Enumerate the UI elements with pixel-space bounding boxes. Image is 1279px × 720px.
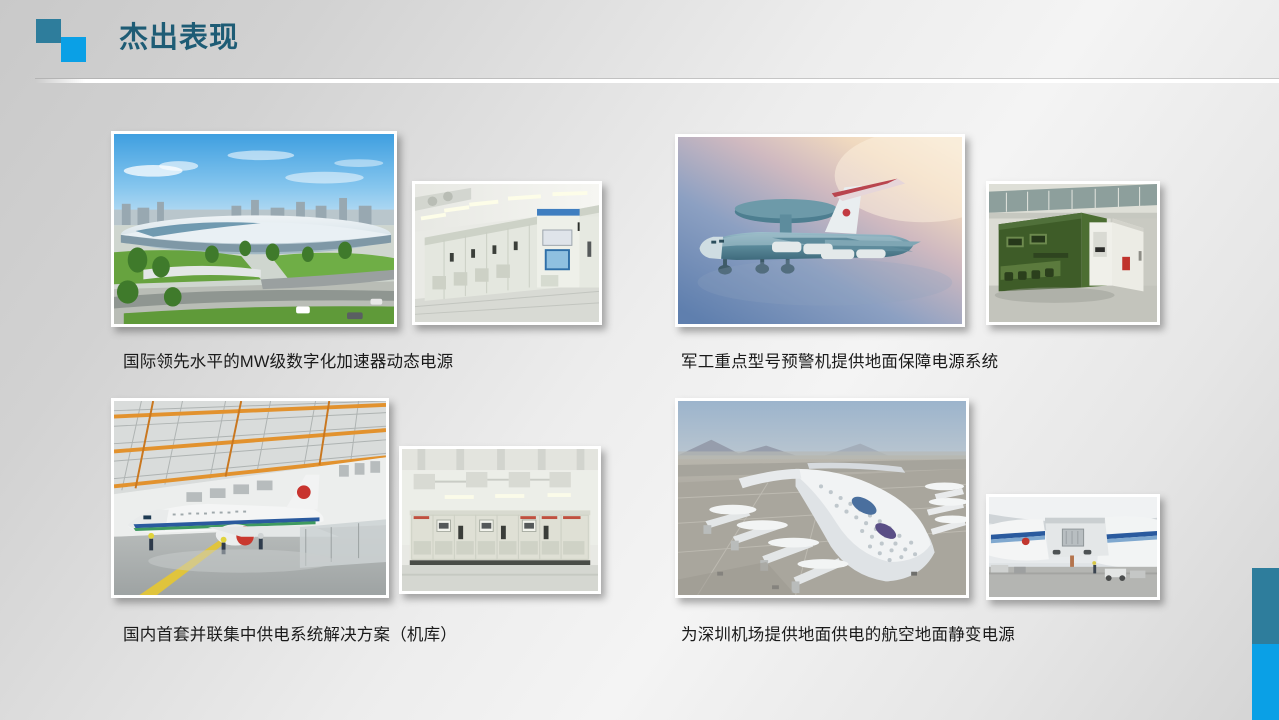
caption-item-1: 国际领先水平的MW级数字化加速器动态电源 — [123, 348, 453, 372]
content-board: 国际领先水平的MW级数字化加速器动态电源 — [0, 0, 1279, 720]
photo-control-cabinets-image — [415, 184, 599, 322]
photo-power-cabinets[interactable] — [399, 446, 601, 594]
photo-awacs-aircraft[interactable] — [675, 134, 965, 327]
photo-military-shelter[interactable] — [986, 181, 1160, 325]
photo-aircraft-underside-image — [989, 497, 1157, 597]
caption-item-4: 为深圳机场提供地面供电的航空地面静变电源 — [681, 621, 1015, 645]
photo-aircraft-underside[interactable] — [986, 494, 1160, 600]
photo-shenzhen-airport-terminal-image — [678, 401, 966, 595]
photo-awacs-aircraft-image — [678, 137, 962, 324]
photo-stadium[interactable] — [111, 131, 397, 327]
caption-item-2: 军工重点型号预警机提供地面保障电源系统 — [681, 348, 998, 372]
accent-bar-blue — [1252, 644, 1279, 720]
accent-bar-teal — [1252, 568, 1279, 644]
photo-shenzhen-airport-terminal[interactable] — [675, 398, 969, 598]
photo-military-shelter-image — [989, 184, 1157, 322]
photo-aircraft-hangar[interactable] — [111, 398, 389, 598]
photo-stadium-image — [114, 134, 394, 324]
caption-item-3: 国内首套并联集中供电系统解决方案（机库） — [123, 621, 457, 645]
photo-power-cabinets-image — [402, 449, 598, 591]
photo-aircraft-hangar-image — [114, 401, 386, 595]
photo-control-cabinets[interactable] — [412, 181, 602, 325]
